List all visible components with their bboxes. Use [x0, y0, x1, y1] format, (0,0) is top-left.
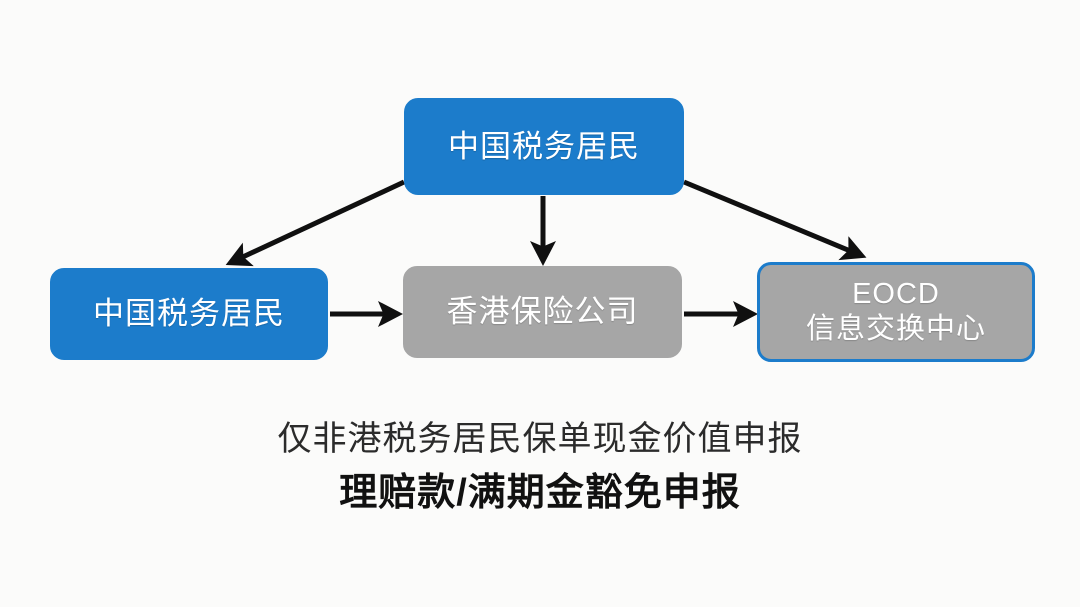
node-label: 中国税务居民	[93, 296, 285, 332]
node-top-china-tax-resident[interactable]: 中国税务居民	[404, 98, 684, 195]
node-label: 香港保险公司	[447, 294, 639, 330]
node-label-line1: EOCD	[852, 278, 940, 311]
node-hk-insurance-company[interactable]: 香港保险公司	[403, 266, 682, 358]
node-label: 中国税务居民	[448, 129, 640, 165]
node-eocd-exchange-center[interactable]: EOCD 信息交换中心	[757, 262, 1035, 362]
caption-block: 仅非港税务居民保单现金价值申报 理赔款/满期金豁免申报	[0, 418, 1080, 518]
caption-primary: 仅非港税务居民保单现金价值申报	[0, 418, 1080, 461]
node-left-china-tax-resident[interactable]: 中国税务居民	[50, 268, 328, 360]
caption-emphasis: 理赔款/满期金豁免申报	[0, 469, 1080, 518]
diagram-canvas: 中国税务居民 中国税务居民 香港保险公司 EOCD 信息交换中心 仅非港税务居民…	[0, 0, 1080, 607]
node-label-line2: 信息交换中心	[806, 313, 986, 346]
edge-top-to-right	[684, 182, 860, 255]
edge-top-to-left	[232, 182, 404, 262]
